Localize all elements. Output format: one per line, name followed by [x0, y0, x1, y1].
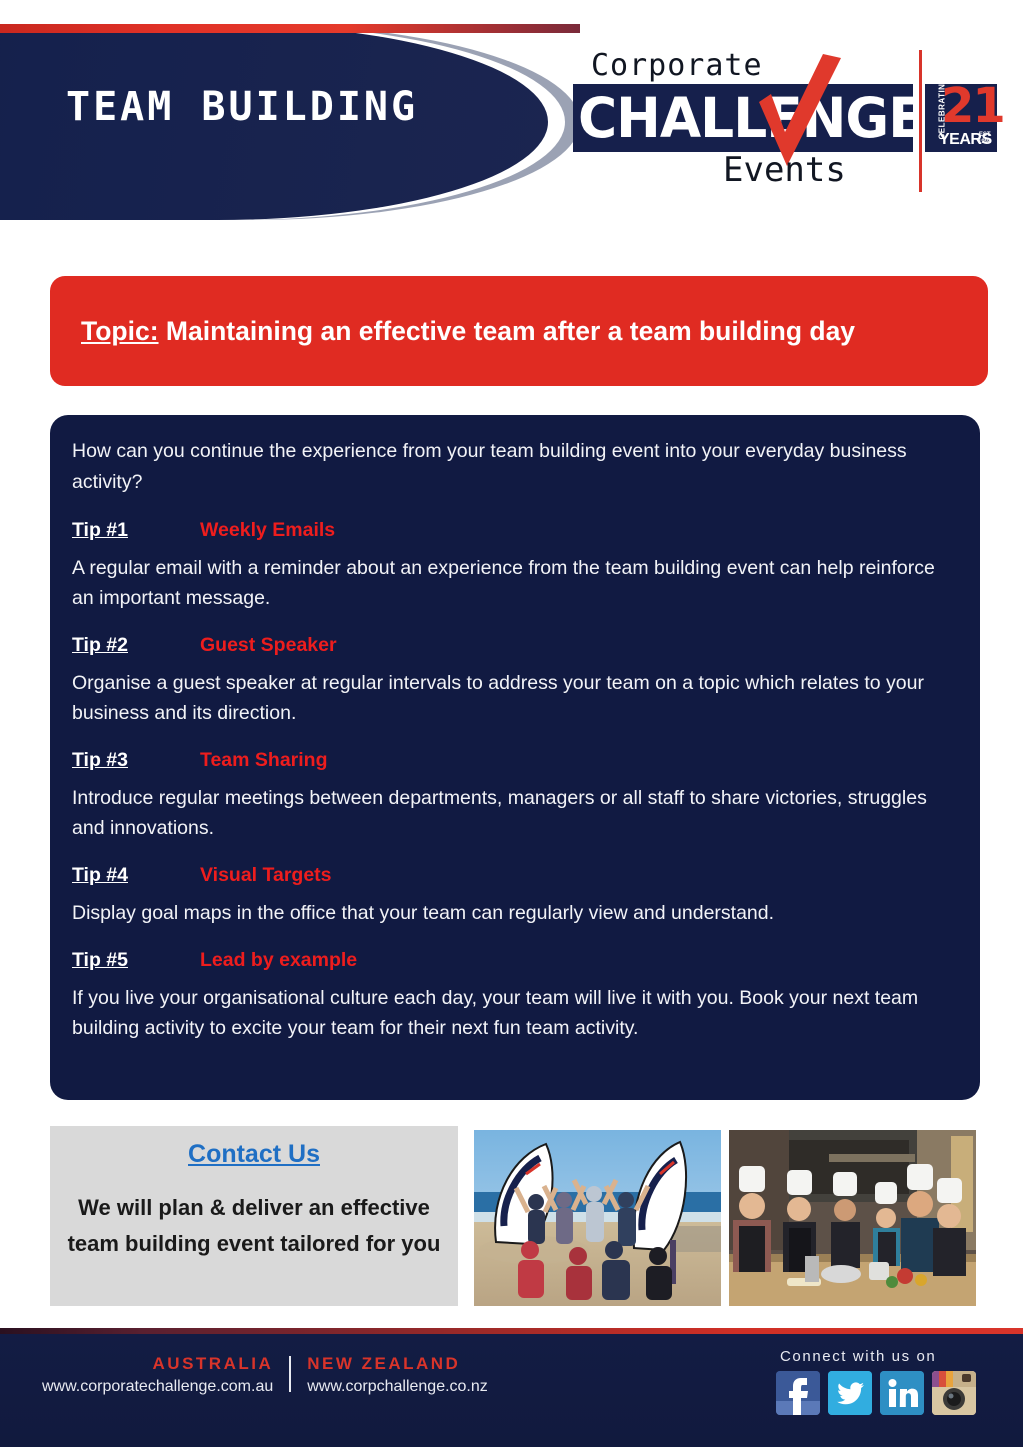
facebook-icon[interactable]: [776, 1371, 820, 1415]
tip-body-2: Organise a guest speaker at regular inte…: [72, 668, 958, 728]
header-red-stripe: [0, 24, 580, 33]
tip-number-1: Tip #1: [72, 519, 200, 542]
linkedin-icon[interactable]: [880, 1371, 924, 1415]
beach-team-photo: [474, 1130, 721, 1306]
footer-social-section: Connect with us on: [776, 1348, 1006, 1415]
tips-intro-text: How can you continue the experience from…: [72, 436, 958, 498]
logo-est-year: 1994: [978, 139, 991, 145]
tip-heading-4: Tip #4 Visual Targets: [72, 864, 958, 887]
corporate-challenge-events-logo: Corporate CHALLENGE Events CELEBRATING 2…: [573, 48, 1001, 200]
tip-heading-3: Tip #3 Team Sharing: [72, 749, 958, 772]
logo-red-divider: [919, 50, 922, 192]
page-title: TEAM BUILDING: [66, 84, 418, 130]
twitter-icon[interactable]: [828, 1371, 872, 1415]
tip-number-4: Tip #4: [72, 864, 200, 887]
tip-heading-5: Tip #5 Lead by example: [72, 949, 958, 972]
topic-value: Maintaining an effective team after a te…: [159, 316, 856, 346]
topic-banner: Topic: Maintaining an effective team aft…: [50, 276, 988, 386]
contact-message: We will plan & deliver an effective team…: [50, 1190, 458, 1262]
logo-established-label: EST 1994: [978, 132, 991, 146]
footer-region-australia: AUSTRALIA www.corporatechallenge.com.au: [28, 1354, 289, 1396]
topic-text: Topic: Maintaining an effective team aft…: [50, 316, 875, 347]
footer-url-australia[interactable]: www.corporatechallenge.com.au: [42, 1378, 273, 1396]
tip-title-5: Lead by example: [200, 949, 357, 972]
footer-regions: AUSTRALIA www.corporatechallenge.com.au …: [28, 1354, 502, 1396]
tip-body-4: Display goal maps in the office that you…: [72, 898, 958, 928]
tip-title-2: Guest Speaker: [200, 634, 337, 657]
page-header: TEAM BUILDING Corporate CHALLENGE Events…: [0, 0, 1023, 232]
footer-url-new-zealand[interactable]: www.corpchallenge.co.nz: [307, 1378, 488, 1396]
page-footer: AUSTRALIA www.corporatechallenge.com.au …: [0, 1328, 1023, 1447]
logo-est-word: EST: [979, 132, 991, 138]
logo-anniversary-badge: CELEBRATING 21 YEARS EST 1994: [925, 84, 997, 152]
tip-title-3: Team Sharing: [200, 749, 328, 772]
flyer-page: TEAM BUILDING Corporate CHALLENGE Events…: [0, 0, 1023, 1447]
tip-heading-2: Tip #2 Guest Speaker: [72, 634, 958, 657]
tip-title-1: Weekly Emails: [200, 519, 335, 542]
footer-country-new-zealand: NEW ZEALAND: [307, 1354, 488, 1374]
connect-with-us-label: Connect with us on: [776, 1348, 1006, 1365]
tip-body-3: Introduce regular meetings between depar…: [72, 783, 958, 843]
tips-card: How can you continue the experience from…: [50, 415, 980, 1100]
contact-us-link[interactable]: Contact Us: [188, 1140, 320, 1169]
tip-number-5: Tip #5: [72, 949, 200, 972]
footer-region-new-zealand: NEW ZEALAND www.corpchallenge.co.nz: [291, 1354, 502, 1396]
footer-country-australia: AUSTRALIA: [42, 1354, 273, 1374]
tip-heading-1: Tip #1 Weekly Emails: [72, 519, 958, 542]
social-icon-row: [776, 1371, 1006, 1415]
logo-word-events: Events: [723, 150, 846, 190]
tip-number-3: Tip #3: [72, 749, 200, 772]
topic-label: Topic:: [81, 316, 159, 346]
tip-title-4: Visual Targets: [200, 864, 332, 887]
cooking-team-photo: [729, 1130, 976, 1306]
logo-word-challenge: CHALLENGE: [578, 85, 902, 151]
tip-body-5: If you live your organisational culture …: [72, 983, 958, 1043]
tip-number-2: Tip #2: [72, 634, 200, 657]
tip-body-1: A regular email with a reminder about an…: [72, 553, 958, 613]
contact-box: Contact Us We will plan & deliver an eff…: [50, 1126, 458, 1306]
logo-anniversary-number: 21: [941, 80, 1004, 132]
footer-red-stripe: [0, 1328, 1023, 1334]
instagram-icon[interactable]: [932, 1371, 976, 1415]
logo-word-corporate: Corporate: [591, 48, 763, 83]
